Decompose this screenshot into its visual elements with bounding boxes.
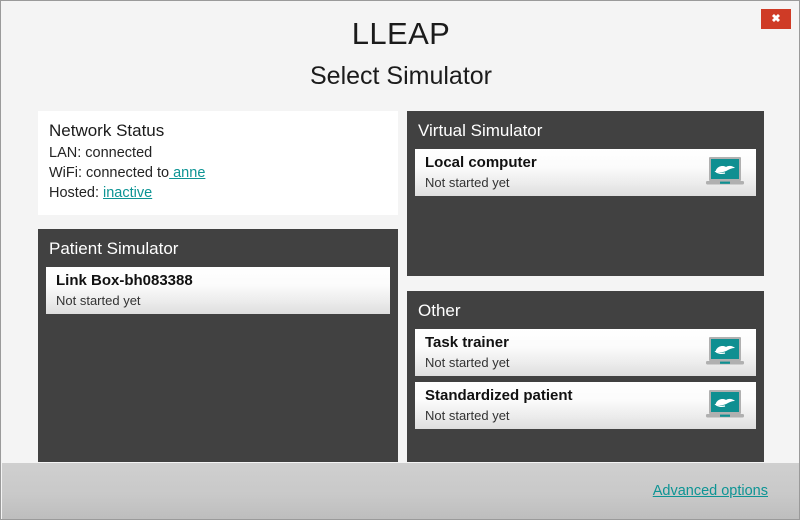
network-wifi-value: connected to: [86, 165, 169, 181]
tile-status: Not started yet: [425, 175, 510, 190]
laptop-manikin-icon: [705, 156, 745, 189]
virtual-simulator-heading: Virtual Simulator: [407, 111, 764, 143]
list-item[interactable]: Standardized patient Not started yet: [415, 382, 756, 429]
network-lan-value: connected: [85, 145, 152, 161]
tile-title: Standardized patient: [425, 387, 573, 404]
network-status-heading: Network Status: [38, 111, 398, 143]
tile-title: Task trainer: [425, 334, 509, 351]
footer-bar: Advanced options: [2, 463, 800, 520]
list-item[interactable]: Local computer Not started yet: [415, 149, 756, 196]
list-item[interactable]: Link Box-bh083388 Not started yet: [46, 267, 390, 314]
network-lan-label: LAN:: [49, 145, 81, 161]
patient-simulator-panel: Patient Simulator Link Box-bh083388 Not …: [38, 229, 398, 462]
virtual-simulator-panel: Virtual Simulator Local computer Not sta…: [407, 111, 764, 276]
network-wifi-link[interactable]: anne: [169, 165, 205, 181]
tile-title: Local computer: [425, 154, 537, 171]
page-title: LLEAP: [2, 16, 800, 52]
network-status-panel: Network Status LAN: connected WiFi: conn…: [38, 111, 398, 215]
network-lan-row: LAN: connected: [49, 143, 398, 163]
other-panel: Other Task trainer Not started yet Stand…: [407, 291, 764, 462]
network-wifi-label: WiFi:: [49, 165, 82, 181]
list-item[interactable]: Task trainer Not started yet: [415, 329, 756, 376]
other-heading: Other: [407, 291, 764, 323]
tile-status: Not started yet: [56, 293, 141, 308]
page-subtitle: Select Simulator: [2, 62, 800, 91]
network-hosted-row: Hosted: inactive: [49, 183, 398, 203]
tile-status: Not started yet: [425, 408, 510, 423]
laptop-manikin-icon: [705, 336, 745, 369]
network-hosted-link[interactable]: inactive: [103, 185, 152, 201]
close-icon[interactable]: ✖: [761, 9, 791, 29]
patient-simulator-heading: Patient Simulator: [38, 229, 398, 261]
title-bar: LLEAP Select Simulator ✖: [2, 2, 800, 102]
network-status-lines: LAN: connected WiFi: connected to anne H…: [38, 143, 398, 203]
advanced-options-link[interactable]: Advanced options: [653, 483, 768, 499]
tile-status: Not started yet: [425, 355, 510, 370]
laptop-manikin-icon: [705, 389, 745, 422]
lleap-select-simulator-window: LLEAP Select Simulator ✖ Network Status …: [0, 0, 800, 520]
network-wifi-row: WiFi: connected to anne: [49, 163, 398, 183]
tile-title: Link Box-bh083388: [56, 272, 193, 289]
network-hosted-label: Hosted:: [49, 185, 99, 201]
